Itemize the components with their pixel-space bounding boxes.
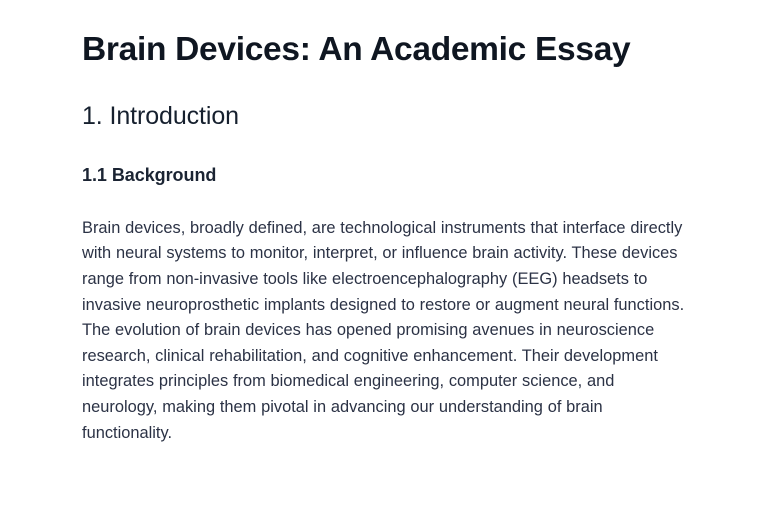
subsection-heading-background: 1.1 Background — [82, 132, 688, 187]
section-heading-introduction: 1. Introduction — [82, 70, 688, 132]
document-content: Brain Devices: An Academic Essay 1. Intr… — [82, 0, 688, 446]
page-title: Brain Devices: An Academic Essay — [82, 0, 688, 70]
body-paragraph: Brain devices, broadly defined, are tech… — [82, 188, 688, 446]
document-page: Brain Devices: An Academic Essay 1. Intr… — [0, 0, 768, 511]
